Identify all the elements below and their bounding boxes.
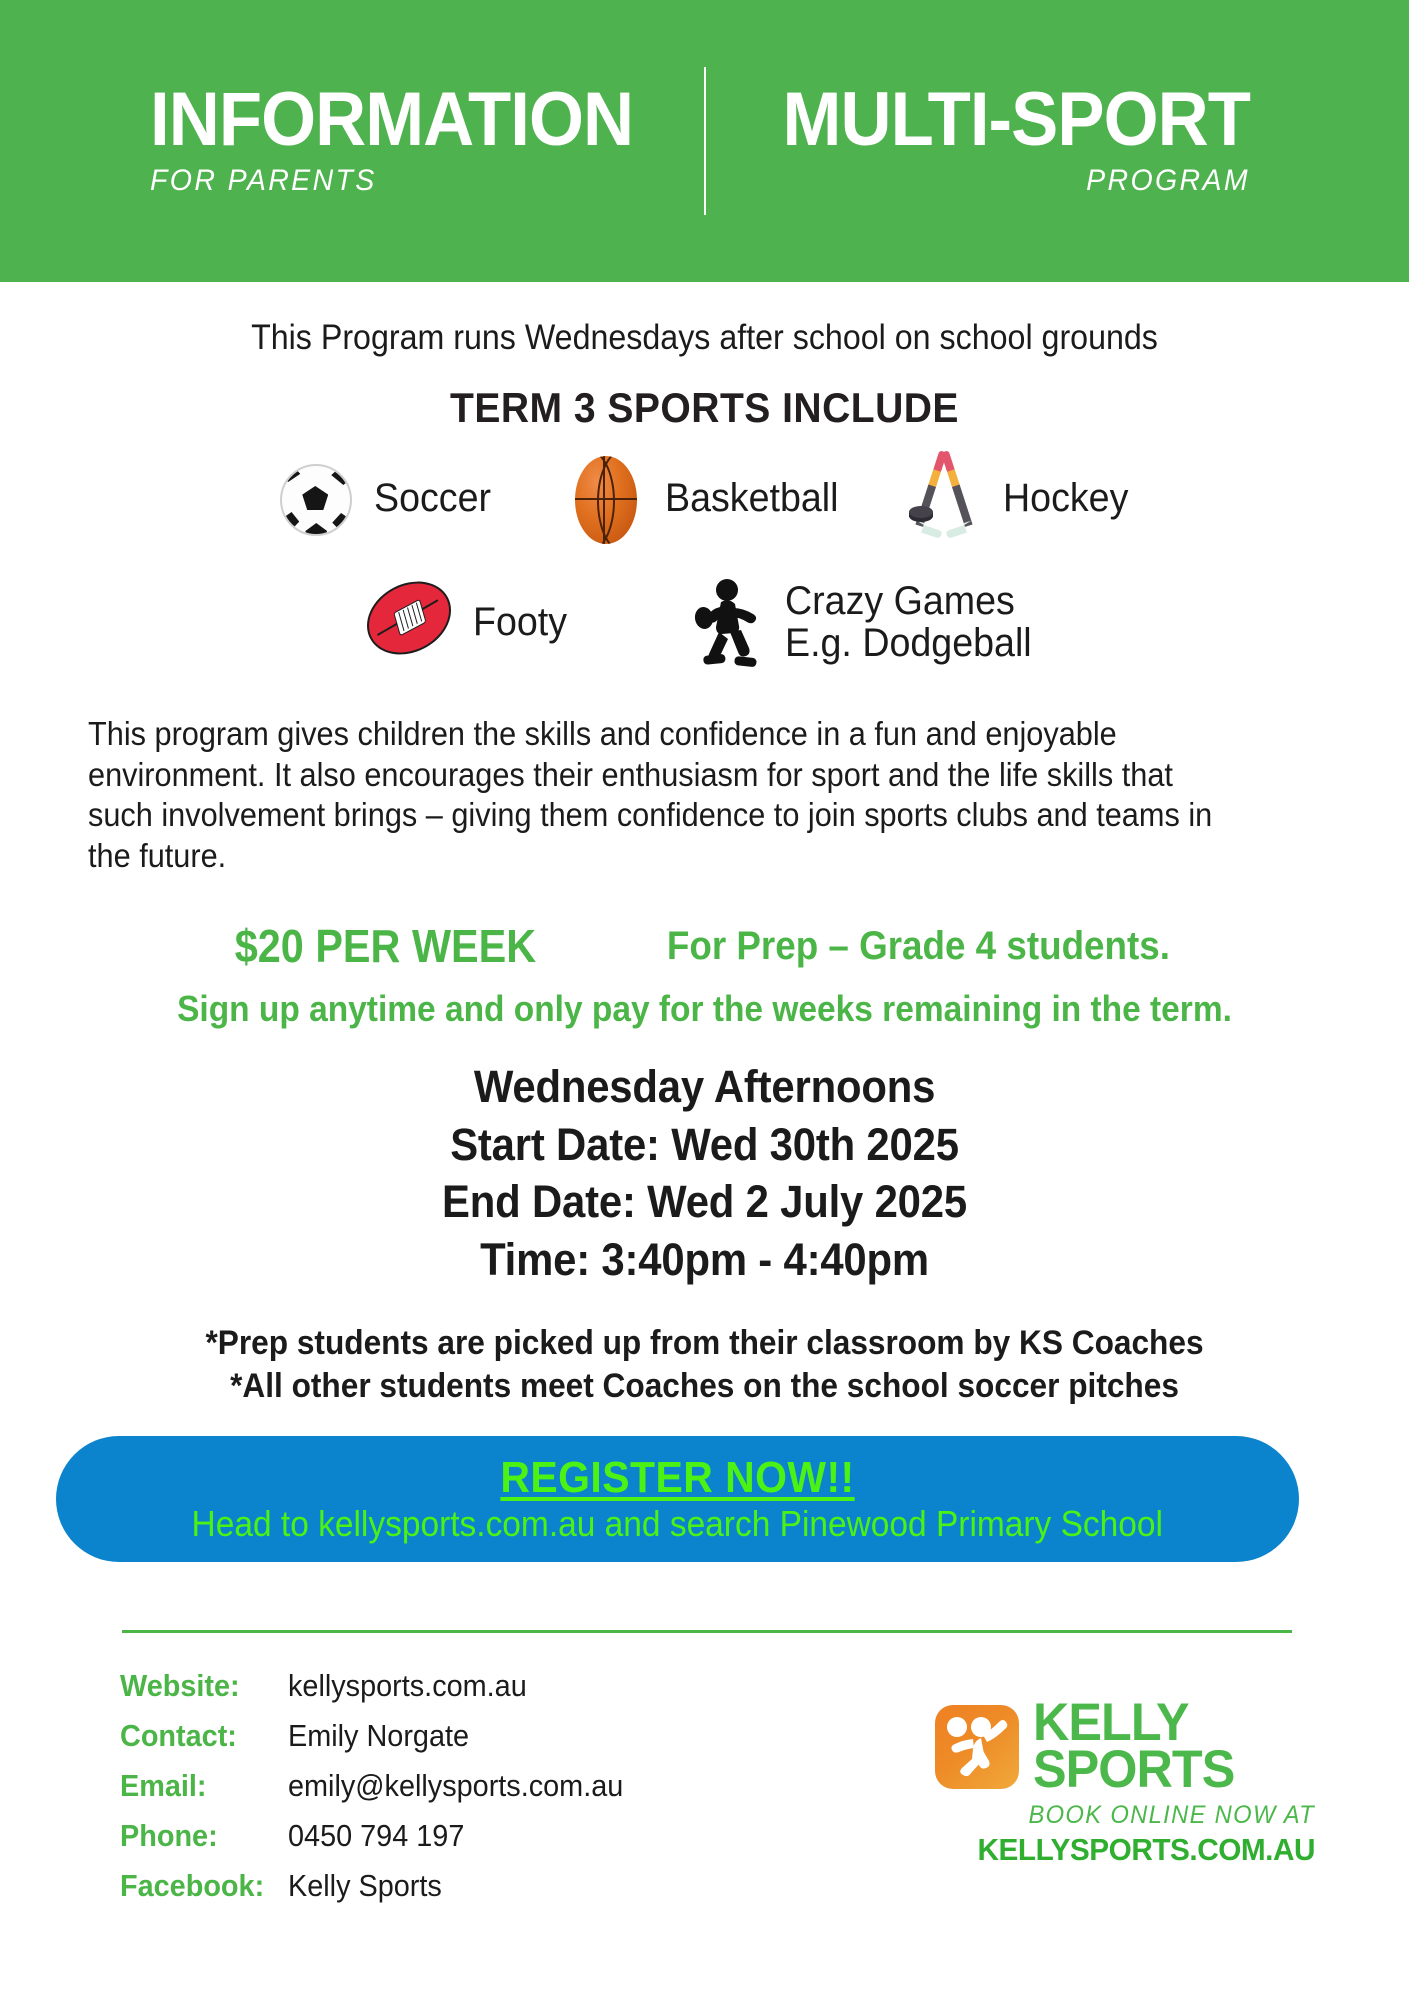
contact-value: Emily Norgate bbox=[288, 1718, 469, 1754]
logo-book-online-text: BOOK ONLINE NOW AT bbox=[954, 1801, 1315, 1830]
sport-crazy-games: Crazy Games E.g. Dodgeball bbox=[683, 574, 1047, 670]
register-banner[interactable]: REGISTER NOW!! Head to kellysports.com.a… bbox=[56, 1436, 1299, 1562]
register-now-link[interactable]: REGISTER NOW!! bbox=[500, 1454, 854, 1502]
term-sports-heading: TERM 3 SPORTS INCLUDE bbox=[49, 384, 1359, 432]
header-left-block: INFORMATION FOR PARENTS bbox=[110, 84, 690, 199]
schedule-note: *Prep students are picked up from their … bbox=[49, 1322, 1359, 1365]
contact-label: Phone: bbox=[120, 1818, 276, 1854]
contact-label: Facebook: bbox=[120, 1868, 276, 1904]
schedule-notes: *Prep students are picked up from their … bbox=[0, 1322, 1409, 1407]
sport-footy: Footy bbox=[361, 574, 573, 670]
kelly-sports-mark-icon bbox=[935, 1705, 1019, 1789]
schedule-line: Time: 3:40pm - 4:40pm bbox=[49, 1231, 1359, 1289]
dodgeball-player-icon bbox=[683, 574, 769, 670]
kelly-sports-logo: KELLY SPORTS BOOK ONLINE NOW AT KELLYSPO… bbox=[935, 1700, 1315, 1920]
header-right-subtitle: PROGRAM bbox=[746, 164, 1250, 198]
sport-label: Soccer bbox=[374, 477, 491, 519]
header-right-block: MULTI-SPORT PROGRAM bbox=[720, 84, 1300, 199]
signup-note: Sign up anytime and only pay for the wee… bbox=[49, 988, 1359, 1030]
program-subtitle: This Program runs Wednesdays after schoo… bbox=[56, 318, 1352, 358]
contact-label: Website: bbox=[120, 1668, 276, 1704]
schedule-line: End Date: Wed 2 July 2025 bbox=[49, 1173, 1359, 1231]
schedule-block: Wednesday Afternoons Start Date: Wed 30t… bbox=[0, 1058, 1409, 1288]
logo-word-sports: SPORTS bbox=[1033, 1747, 1234, 1794]
sport-basketball: Basketball bbox=[563, 450, 850, 546]
contact-row-website: Website: kellysports.com.au bbox=[120, 1668, 820, 1704]
schedule-note: *All other students meet Coaches on the … bbox=[49, 1365, 1359, 1408]
sport-hockey: Hockey bbox=[901, 450, 1136, 546]
contact-label: Email: bbox=[120, 1768, 276, 1804]
header-right-title: MULTI-SPORT bbox=[757, 84, 1250, 157]
header-banner: INFORMATION FOR PARENTS MULTI-SPORT PROG… bbox=[0, 0, 1409, 282]
sport-label: Hockey bbox=[1003, 477, 1128, 519]
contact-label: Contact: bbox=[120, 1718, 276, 1754]
contact-row-phone: Phone: 0450 794 197 bbox=[120, 1818, 820, 1854]
contact-value[interactable]: emily@kellysports.com.au bbox=[288, 1768, 623, 1804]
program-description: This program gives children the skills a… bbox=[88, 714, 1246, 876]
logo-url[interactable]: KELLYSPORTS.COM.AU bbox=[950, 1832, 1315, 1868]
basketball-icon bbox=[563, 450, 649, 546]
hockey-sticks-icon bbox=[901, 450, 987, 546]
sport-label: Basketball bbox=[665, 477, 838, 519]
flyer-page: INFORMATION FOR PARENTS MULTI-SPORT PROG… bbox=[0, 0, 1409, 2000]
pricing-row: $20 PER WEEK For Prep – Grade 4 students… bbox=[0, 918, 1409, 974]
sport-label: Crazy Games E.g. Dodgeball bbox=[785, 580, 1032, 664]
header-left-title: INFORMATION bbox=[150, 84, 652, 157]
soccer-ball-icon bbox=[272, 450, 358, 546]
footer-divider bbox=[122, 1630, 1292, 1633]
register-instructions: Head to kellysports.com.au and search Pi… bbox=[192, 1504, 1163, 1544]
contact-value: 0450 794 197 bbox=[288, 1818, 464, 1854]
contact-details: Website: kellysports.com.au Contact: Emi… bbox=[120, 1668, 820, 1918]
sport-soccer: Soccer bbox=[272, 450, 499, 546]
footy-ball-icon bbox=[361, 574, 457, 670]
sport-label: Footy bbox=[473, 601, 567, 643]
sports-row-2: Footy Crazy Games E.g. Dodgeball bbox=[0, 564, 1409, 680]
schedule-line: Wednesday Afternoons bbox=[49, 1058, 1359, 1116]
grades-label: For Prep – Grade 4 students. bbox=[666, 924, 1169, 969]
header-left-subtitle: FOR PARENTS bbox=[150, 164, 663, 198]
schedule-line: Start Date: Wed 30th 2025 bbox=[49, 1116, 1359, 1174]
contact-row-email: Email: emily@kellysports.com.au bbox=[120, 1768, 820, 1804]
contact-value[interactable]: Kelly Sports bbox=[288, 1868, 442, 1904]
price-label: $20 PER WEEK bbox=[234, 919, 535, 973]
contact-row-facebook: Facebook: Kelly Sports bbox=[120, 1868, 820, 1904]
contact-row-contact: Contact: Emily Norgate bbox=[120, 1718, 820, 1754]
header-divider bbox=[704, 67, 706, 215]
contact-value[interactable]: kellysports.com.au bbox=[288, 1668, 527, 1704]
sports-row-1: Soccer Basketball bbox=[0, 442, 1409, 554]
